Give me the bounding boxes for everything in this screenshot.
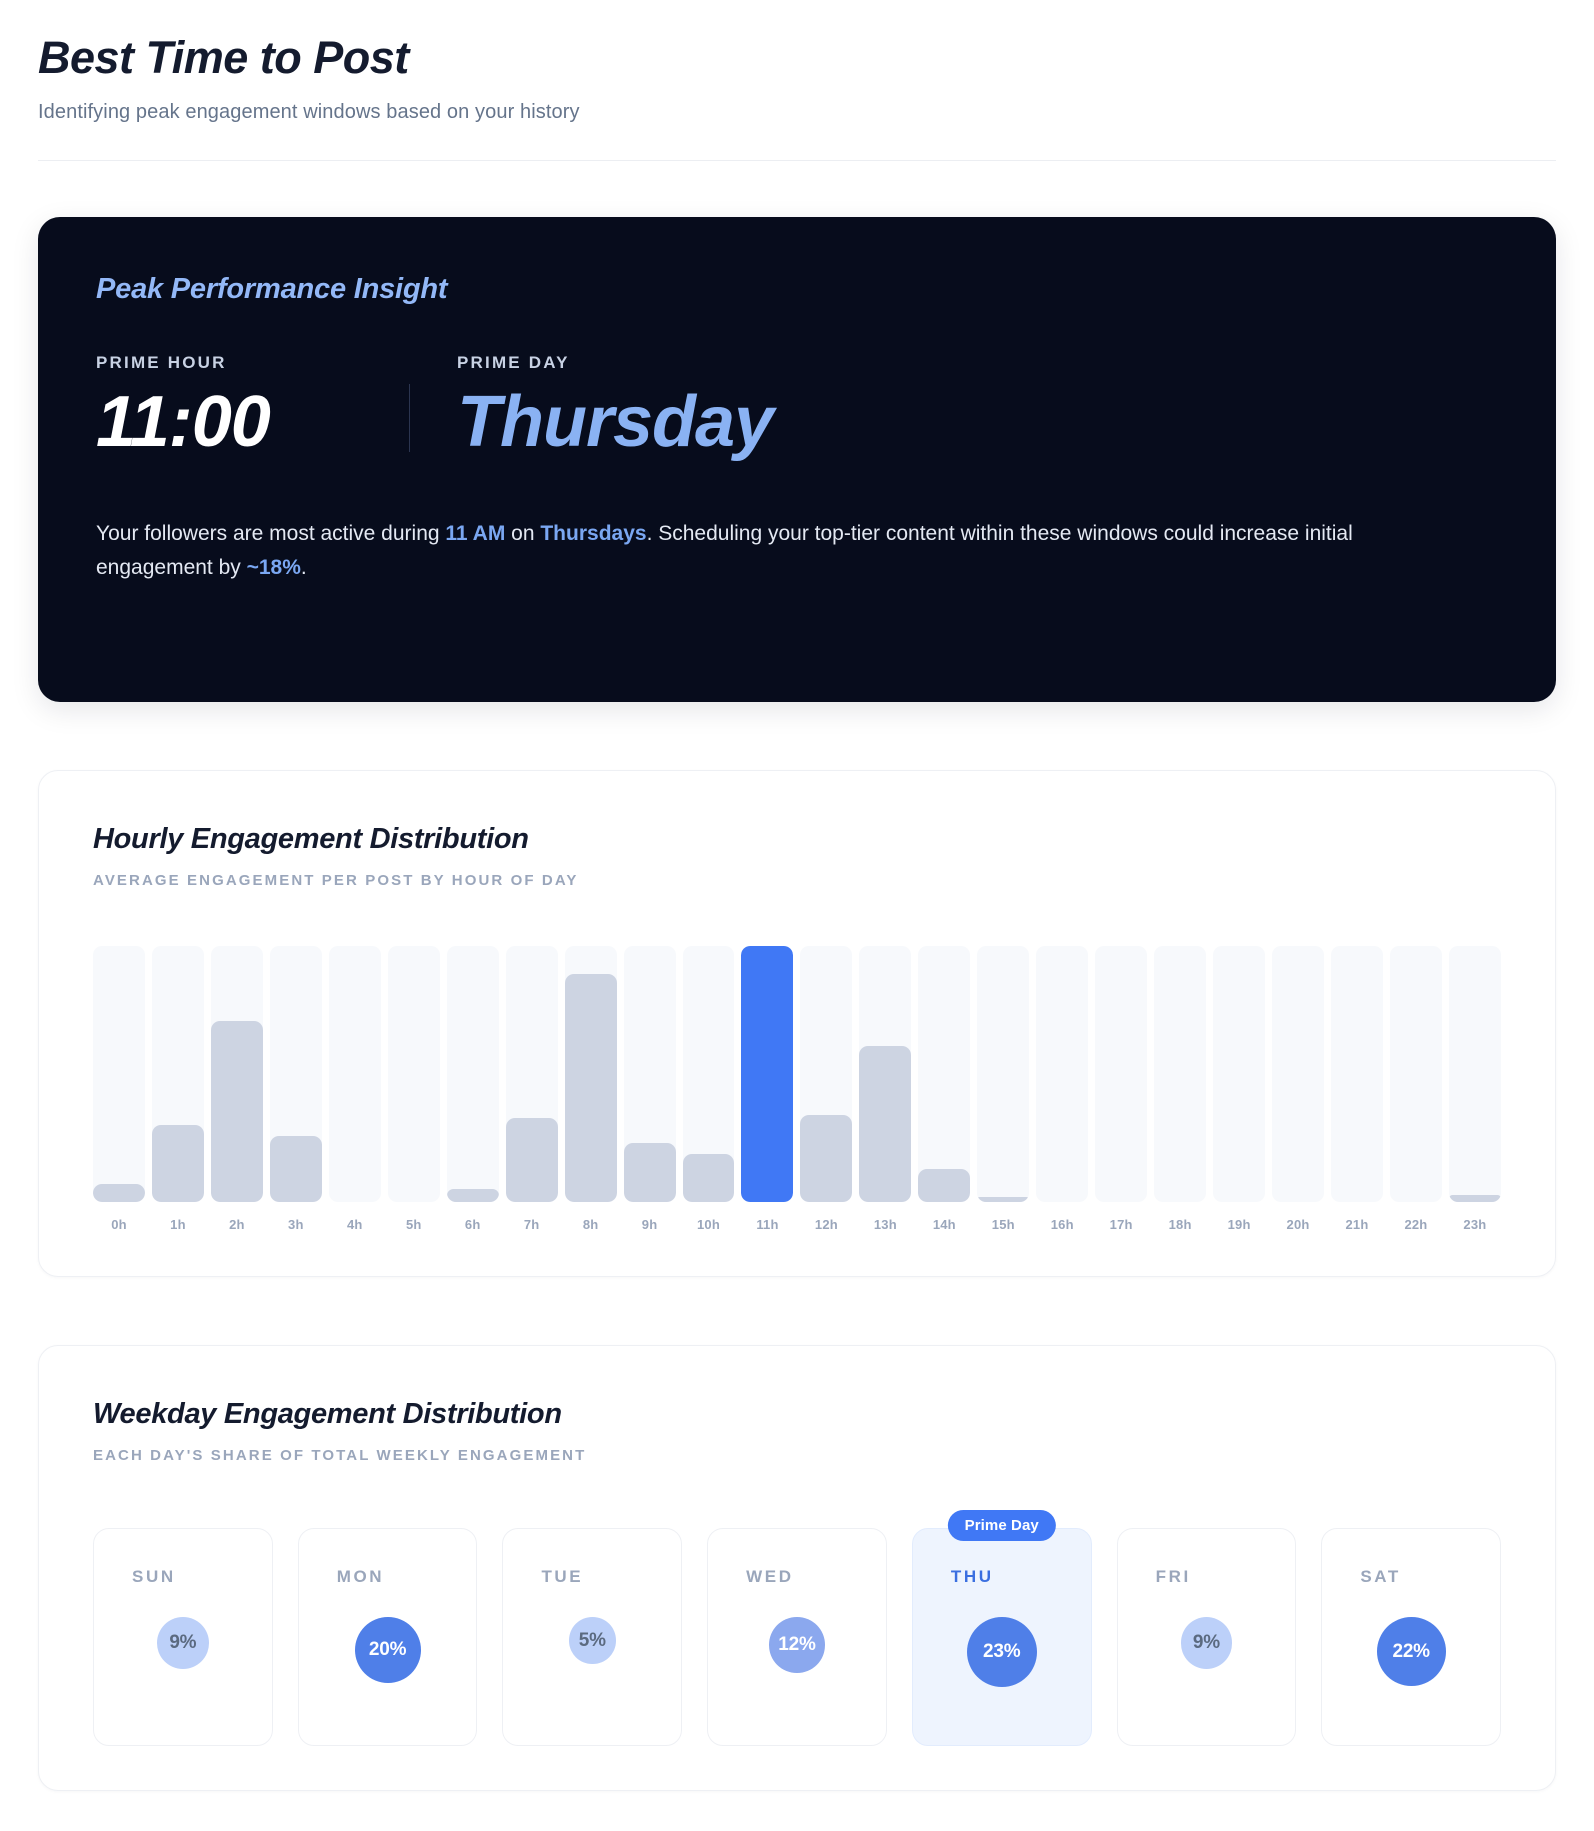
prime-hour-metric: PRIME HOUR 11:00 bbox=[96, 353, 409, 458]
hour-bar-0h[interactable] bbox=[93, 946, 145, 1202]
prime-day-metric: PRIME DAY Thursday bbox=[457, 353, 773, 458]
hour-label-22h: 22h bbox=[1390, 1217, 1442, 1232]
weekday-card-thu[interactable]: Prime DayTHU23% bbox=[912, 1528, 1092, 1746]
metric-divider bbox=[409, 384, 410, 452]
hour-label-7h: 7h bbox=[506, 1217, 558, 1232]
weekday-card-fri[interactable]: FRI9% bbox=[1117, 1528, 1297, 1746]
weekday-name: TUE bbox=[541, 1567, 583, 1587]
weekday-chart-subtitle: EACH DAY'S SHARE OF TOTAL WEEKLY ENGAGEM… bbox=[93, 1447, 1501, 1464]
hour-bar-fill bbox=[741, 946, 793, 1202]
hour-bar-16h[interactable] bbox=[1036, 946, 1088, 1202]
hour-bar-fill bbox=[565, 974, 617, 1202]
hour-bar-fill bbox=[859, 1046, 911, 1202]
hour-bar-track bbox=[800, 946, 852, 1202]
weekday-name: FRI bbox=[1156, 1567, 1191, 1587]
insight-highlight-hour: 11 AM bbox=[445, 522, 505, 545]
hour-bar-fill bbox=[270, 1136, 322, 1203]
weekday-name: WED bbox=[746, 1567, 793, 1587]
hour-label-20h: 20h bbox=[1272, 1217, 1324, 1232]
hour-label-16h: 16h bbox=[1036, 1217, 1088, 1232]
hour-bar-track bbox=[918, 946, 970, 1202]
hour-bar-track bbox=[1036, 946, 1088, 1202]
hour-bar-fill bbox=[800, 1115, 852, 1202]
weekday-card-mon[interactable]: MON20% bbox=[298, 1528, 478, 1746]
hour-bar-track bbox=[270, 946, 322, 1202]
weekday-share-bubble: 23% bbox=[967, 1617, 1037, 1687]
hour-bar-track bbox=[1449, 946, 1501, 1202]
hour-bar-21h[interactable] bbox=[1331, 946, 1383, 1202]
weekday-card-wed[interactable]: WED12% bbox=[707, 1528, 887, 1746]
weekday-card-sun[interactable]: SUN9% bbox=[93, 1528, 273, 1746]
weekday-share-bubble: 9% bbox=[1181, 1617, 1233, 1669]
hour-label-18h: 18h bbox=[1154, 1217, 1206, 1232]
hour-bar-fill bbox=[624, 1143, 676, 1202]
weekday-share-bubble: 12% bbox=[769, 1617, 825, 1673]
hourly-chart-subtitle: AVERAGE ENGAGEMENT PER POST BY HOUR OF D… bbox=[93, 872, 1501, 889]
hour-bar-track bbox=[1272, 946, 1324, 1202]
insight-body-part4: . bbox=[301, 556, 307, 579]
hour-bar-19h[interactable] bbox=[1213, 946, 1265, 1202]
prime-hour-value: 11:00 bbox=[96, 386, 409, 458]
hour-bar-track bbox=[977, 946, 1029, 1202]
hour-bar-track bbox=[741, 946, 793, 1202]
weekday-card-sat[interactable]: SAT22% bbox=[1321, 1528, 1501, 1746]
hour-bar-18h[interactable] bbox=[1154, 946, 1206, 1202]
prime-day-value: Thursday bbox=[457, 386, 773, 458]
hour-label-0h: 0h bbox=[93, 1217, 145, 1232]
hour-label-19h: 19h bbox=[1213, 1217, 1265, 1232]
page-subtitle: Identifying peak engagement windows base… bbox=[38, 101, 1556, 124]
hour-bar-fill bbox=[211, 1021, 263, 1203]
hour-bar-fill bbox=[506, 1118, 558, 1202]
hour-bar-fill bbox=[683, 1154, 735, 1203]
peak-performance-insight-card: Peak Performance Insight PRIME HOUR 11:0… bbox=[38, 217, 1556, 702]
hour-label-5h: 5h bbox=[388, 1217, 440, 1232]
hour-label-15h: 15h bbox=[977, 1217, 1029, 1232]
hour-label-17h: 17h bbox=[1095, 1217, 1147, 1232]
hour-bar-23h[interactable] bbox=[1449, 946, 1501, 1202]
hour-label-6h: 6h bbox=[447, 1217, 499, 1232]
hour-bar-9h[interactable] bbox=[624, 946, 676, 1202]
prime-day-badge: Prime Day bbox=[948, 1510, 1056, 1541]
hour-bar-1h[interactable] bbox=[152, 946, 204, 1202]
hour-bar-12h[interactable] bbox=[800, 946, 852, 1202]
insight-highlight-uplift: ~18% bbox=[247, 556, 301, 579]
prime-hour-label: PRIME HOUR bbox=[96, 353, 409, 373]
hour-bar-track bbox=[859, 946, 911, 1202]
hour-bar-fill bbox=[152, 1125, 204, 1202]
hourly-axis-labels: 0h1h2h3h4h5h6h7h8h9h10h11h12h13h14h15h16… bbox=[93, 1217, 1501, 1232]
hour-label-14h: 14h bbox=[918, 1217, 970, 1232]
hour-bar-fill bbox=[93, 1184, 145, 1202]
hour-bar-track bbox=[1331, 946, 1383, 1202]
hour-label-12h: 12h bbox=[800, 1217, 852, 1232]
weekday-chart-title: Weekday Engagement Distribution bbox=[93, 1398, 1501, 1431]
hour-bar-3h[interactable] bbox=[270, 946, 322, 1202]
weekday-name: SUN bbox=[132, 1567, 176, 1587]
hour-bar-2h[interactable] bbox=[211, 946, 263, 1202]
hour-bar-13h[interactable] bbox=[859, 946, 911, 1202]
hour-label-11h: 11h bbox=[741, 1217, 793, 1232]
hourly-chart-title: Hourly Engagement Distribution bbox=[93, 823, 1501, 856]
hour-bar-7h[interactable] bbox=[506, 946, 558, 1202]
weekday-card-tue[interactable]: TUE5% bbox=[502, 1528, 682, 1746]
hour-bar-track bbox=[211, 946, 263, 1202]
hour-bar-track bbox=[1154, 946, 1206, 1202]
hourly-bars bbox=[93, 946, 1501, 1202]
weekday-share-bubble: 20% bbox=[355, 1617, 421, 1683]
hour-label-1h: 1h bbox=[152, 1217, 204, 1232]
hour-bar-15h[interactable] bbox=[977, 946, 1029, 1202]
hour-bar-10h[interactable] bbox=[683, 946, 735, 1202]
hour-bar-22h[interactable] bbox=[1390, 946, 1442, 1202]
insight-highlight-day: Thursdays bbox=[540, 522, 646, 545]
weekday-share-bubble: 5% bbox=[569, 1617, 616, 1664]
hour-bar-track bbox=[93, 946, 145, 1202]
insight-title: Peak Performance Insight bbox=[96, 273, 1498, 306]
weekday-card-list: SUN9%MON20%TUE5%WED12%Prime DayTHU23%FRI… bbox=[93, 1528, 1501, 1746]
hour-label-13h: 13h bbox=[859, 1217, 911, 1232]
hour-bar-track bbox=[1213, 946, 1265, 1202]
hour-label-4h: 4h bbox=[329, 1217, 381, 1232]
hour-label-2h: 2h bbox=[211, 1217, 263, 1232]
weekday-engagement-card: Weekday Engagement Distribution EACH DAY… bbox=[38, 1345, 1556, 1791]
hour-label-9h: 9h bbox=[624, 1217, 676, 1232]
hourly-engagement-card: Hourly Engagement Distribution AVERAGE E… bbox=[38, 770, 1556, 1277]
hour-label-21h: 21h bbox=[1331, 1217, 1383, 1232]
hour-bar-17h[interactable] bbox=[1095, 946, 1147, 1202]
hour-bar-track bbox=[1095, 946, 1147, 1202]
header-divider bbox=[38, 160, 1556, 161]
hour-bar-track bbox=[152, 946, 204, 1202]
hour-bar-track bbox=[565, 946, 617, 1202]
weekday-share-bubble: 22% bbox=[1377, 1617, 1446, 1686]
hour-label-8h: 8h bbox=[565, 1217, 617, 1232]
prime-day-label: PRIME DAY bbox=[457, 353, 773, 373]
hour-bar-14h[interactable] bbox=[918, 946, 970, 1202]
hour-bar-track bbox=[624, 946, 676, 1202]
insight-body-part1: Your followers are most active during bbox=[96, 522, 445, 545]
hour-bar-track bbox=[506, 946, 558, 1202]
hour-bar-fill bbox=[977, 1197, 1029, 1202]
hour-bar-track bbox=[329, 946, 381, 1202]
hour-bar-fill bbox=[1449, 1195, 1501, 1203]
weekday-name: SAT bbox=[1360, 1567, 1401, 1587]
hour-label-10h: 10h bbox=[683, 1217, 735, 1232]
hour-bar-fill bbox=[918, 1169, 970, 1202]
page-root: Best Time to Post Identifying peak engag… bbox=[0, 0, 1594, 1791]
hour-bar-6h[interactable] bbox=[447, 946, 499, 1202]
hour-bar-20h[interactable] bbox=[1272, 946, 1324, 1202]
hour-bar-track bbox=[683, 946, 735, 1202]
weekday-name: THU bbox=[951, 1567, 994, 1587]
page-title: Best Time to Post bbox=[38, 34, 1556, 81]
hourly-bar-chart: 0h1h2h3h4h5h6h7h8h9h10h11h12h13h14h15h16… bbox=[93, 946, 1501, 1232]
hour-bar-track bbox=[447, 946, 499, 1202]
hour-bar-track bbox=[388, 946, 440, 1202]
insight-body: Your followers are most active during 11… bbox=[96, 517, 1432, 585]
hour-bar-11h[interactable] bbox=[741, 946, 793, 1202]
page-header: Best Time to Post Identifying peak engag… bbox=[38, 34, 1556, 161]
insight-metrics: PRIME HOUR 11:00 PRIME DAY Thursday bbox=[96, 353, 1498, 458]
hour-bar-5h[interactable] bbox=[388, 946, 440, 1202]
weekday-share-bubble: 9% bbox=[157, 1617, 209, 1669]
hour-bar-track bbox=[1390, 946, 1442, 1202]
hour-bar-4h[interactable] bbox=[329, 946, 381, 1202]
hour-bar-8h[interactable] bbox=[565, 946, 617, 1202]
insight-body-part2: on bbox=[505, 522, 540, 545]
hour-label-23h: 23h bbox=[1449, 1217, 1501, 1232]
hour-bar-fill bbox=[447, 1189, 499, 1202]
weekday-name: MON bbox=[337, 1567, 384, 1587]
hour-label-3h: 3h bbox=[270, 1217, 322, 1232]
